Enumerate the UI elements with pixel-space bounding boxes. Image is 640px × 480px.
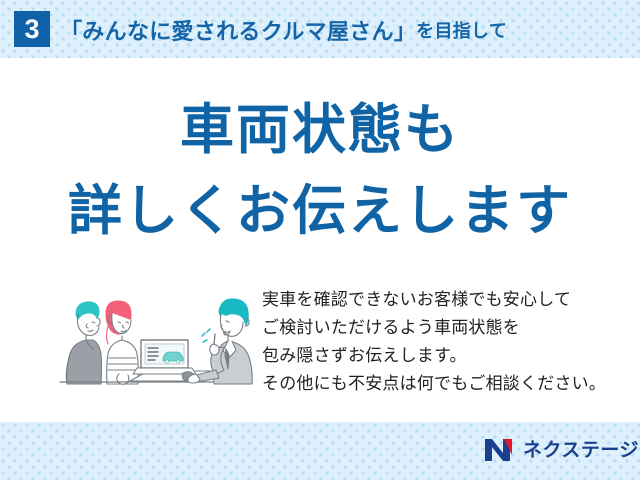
sparkle-1 xyxy=(202,333,205,336)
nextage-n-logo-icon xyxy=(484,438,516,462)
man-head xyxy=(77,314,99,336)
step-number-label: 3 xyxy=(24,16,39,43)
woman-hands xyxy=(117,374,129,384)
consultation-illustration-svg xyxy=(56,278,256,388)
brand-name-label: ネクステージ xyxy=(523,441,639,460)
promo-banner: 3 「みんなに愛されるクルマ屋さん」 を目指して 車両状態も 詳しくお伝えします xyxy=(0,0,640,480)
consultation-illustration xyxy=(56,278,256,388)
headline-line-1: 車両状態も xyxy=(0,103,640,157)
body-copy-line-1: 実車を確認できないお客様でも安心して xyxy=(262,286,622,314)
brand-logo: ネクステージ xyxy=(484,437,639,463)
man-mouth xyxy=(88,330,93,331)
man-hair xyxy=(76,302,99,319)
step-number-badge: 3 xyxy=(14,11,50,47)
header-title: 「みんなに愛されるクルマ屋さん」 を目指して xyxy=(60,13,507,47)
body-copy-line-3: 包み隠さずお伝えします。 xyxy=(262,342,622,370)
staff-pointing-finger xyxy=(214,334,215,344)
header-title-suffix: を目指して xyxy=(416,17,507,43)
sparkle-2 xyxy=(207,329,210,332)
man-ear xyxy=(97,318,100,326)
headline-line-2: 詳しくお伝えします xyxy=(0,184,640,238)
woman-hair-strand xyxy=(107,326,109,344)
sparkle-3 xyxy=(203,340,207,342)
man-nose xyxy=(86,324,88,328)
header-title-main: 「みんなに愛されるクルマ屋さん」 xyxy=(60,14,416,46)
laptop-car-wheel-front xyxy=(165,360,168,363)
staff-hand xyxy=(210,344,219,355)
body-copy: 実車を確認できないお客様でも安心して ご検討いただけるよう車両状態を 包み隠さず… xyxy=(262,286,622,398)
laptop-car-wheel-rear xyxy=(176,360,179,363)
body-copy-line-2: ご検討いただけるよう車両状態を xyxy=(262,314,622,342)
man-body xyxy=(67,340,102,384)
body-copy-line-4: その他にも不安点は何でもご相談ください。 xyxy=(262,370,622,398)
man-eye xyxy=(92,322,95,323)
laptop-car-image xyxy=(163,352,183,361)
